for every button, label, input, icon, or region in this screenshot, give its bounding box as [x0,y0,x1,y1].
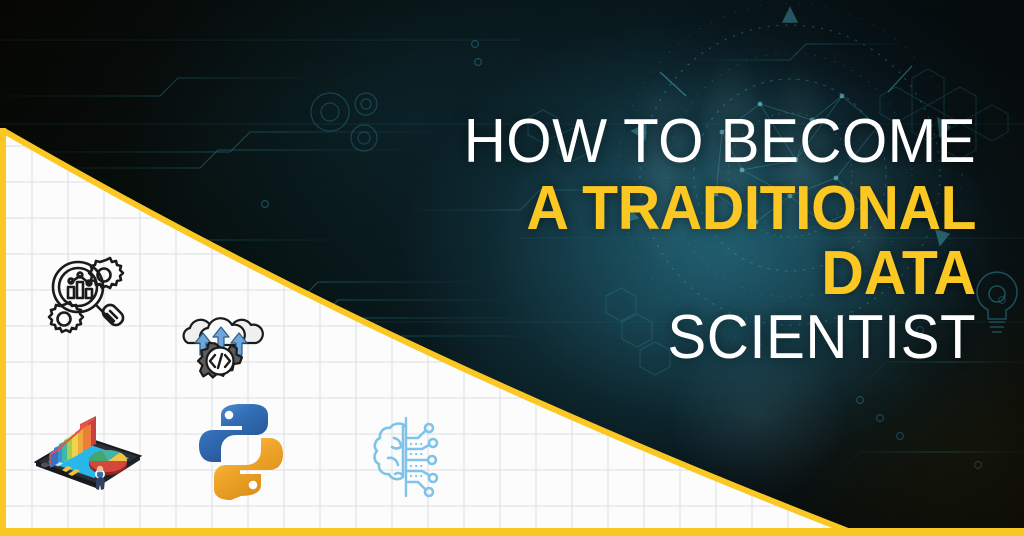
cloud-code-gear-icon [178,305,266,393]
promo-banner: HOW TO BECOME A TRADITIONAL DATA SCIENTI… [0,0,1024,536]
data-analytics-magnifier-gear-icon [36,246,136,346]
tablet-dashboard-chart-icon [28,392,148,496]
ai-brain-circuit-icon [364,416,452,500]
python-logo-icon [196,398,286,502]
gear-outline [311,93,377,151]
headline-line-1: HOW TO BECOME [464,112,976,173]
headline-line-4: SCIENTIST [464,308,976,369]
headline-line-2: A TRADITIONAL [458,179,976,240]
headline-line-3: DATA [458,244,976,305]
headline-block: HOW TO BECOME A TRADITIONAL DATA SCIENTI… [431,112,976,369]
